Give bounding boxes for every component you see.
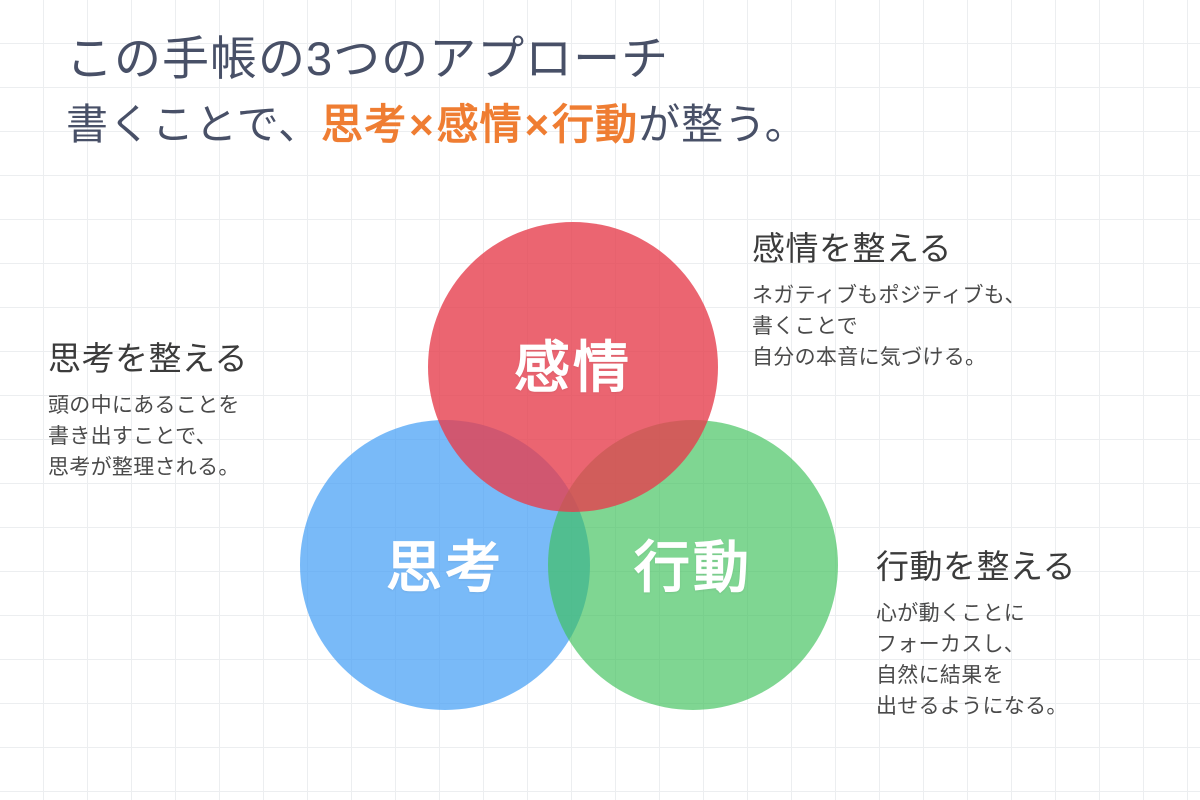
annotation-emotion-line-1: ネガティブもポジティブも、 [752,280,1026,311]
annotation-thought-line-2: 書き出すことで、 [48,421,248,452]
headline-keyword-thought: 思考 [321,101,407,148]
headline-separator-2: × [523,101,553,148]
headline-secondary-prefix: 書くことで、 [66,101,321,148]
annotation-thought-title: 思考を整える [48,338,248,380]
annotation-action-title: 行動を整える [876,546,1076,588]
headline-secondary: 書くことで、思考×感情×行動が整う。 [66,96,1126,154]
headline-separator-1: × [407,101,437,148]
headline-primary: この手帳の3つのアプローチ [66,28,1126,90]
annotation-emotion-body: ネガティブもポジティブも、 書くことで 自分の本音に気づける。 [752,280,1026,373]
annotation-action: 行動を整える 心が動くことに フォーカスし、 自然に結果を 出せるようになる。 [876,546,1076,722]
annotation-emotion-line-2: 書くことで [752,311,1026,342]
annotation-action-line-2: フォーカスし、 [876,629,1076,660]
venn-label-emotion: 感情 [480,340,666,396]
slide-canvas: この手帳の3つのアプローチ 書くことで、思考×感情×行動が整う。 感情 思考 行… [0,0,1200,800]
venn-label-thought: 思考 [352,540,538,596]
annotation-thought: 思考を整える 頭の中にあることを 書き出すことで、 思考が整理される。 [48,338,248,483]
annotation-emotion-title: 感情を整える [752,228,1026,270]
annotation-action-line-4: 出せるようになる。 [876,691,1076,722]
annotation-action-body: 心が動くことに フォーカスし、 自然に結果を 出せるようになる。 [876,598,1076,722]
venn-label-action: 行動 [600,540,786,596]
annotation-action-line-1: 心が動くことに [876,598,1076,629]
annotation-thought-line-3: 思考が整理される。 [48,452,248,483]
annotation-emotion: 感情を整える ネガティブもポジティブも、 書くことで 自分の本音に気づける。 [752,228,1026,373]
headline-keyword-emotion: 感情 [437,101,523,148]
annotation-emotion-line-3: 自分の本音に気づける。 [752,342,1026,373]
annotation-thought-line-1: 頭の中にあることを [48,390,248,421]
annotation-thought-body: 頭の中にあることを 書き出すことで、 思考が整理される。 [48,390,248,483]
annotation-action-line-3: 自然に結果を [876,660,1076,691]
headline-secondary-suffix: が整う。 [638,101,807,148]
headline-keyword-action: 行動 [552,101,638,148]
headline-block: この手帳の3つのアプローチ 書くことで、思考×感情×行動が整う。 [66,28,1126,154]
